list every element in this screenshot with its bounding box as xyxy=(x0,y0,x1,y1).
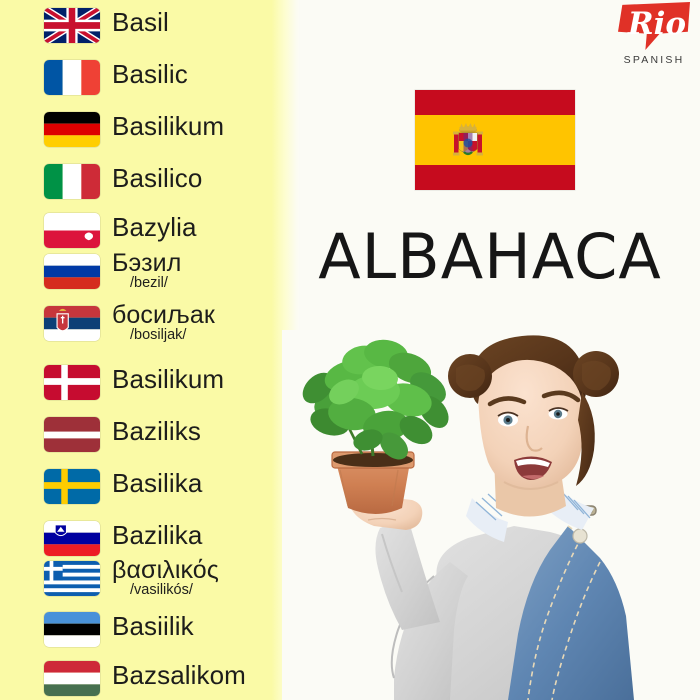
word-container: Baziliks xyxy=(112,413,292,457)
list-item[interactable]: Basilikum xyxy=(0,361,290,405)
list-item[interactable]: Baziliks xyxy=(0,413,290,457)
list-item[interactable]: Basilico xyxy=(0,160,290,204)
spain-flag-middle-stripe xyxy=(415,115,575,165)
list-item[interactable]: Бэзил /bezil/ xyxy=(0,250,290,294)
word-container: Bazsalikom xyxy=(112,657,292,700)
flag-hungary-icon xyxy=(44,661,100,696)
translation-word: Baziliks xyxy=(112,415,201,447)
word-container: Basilico xyxy=(112,160,292,204)
flag-uk-icon xyxy=(44,8,100,43)
translation-pronunciation: /bezil/ xyxy=(130,275,168,291)
list-item[interactable]: Bazsalikom xyxy=(0,657,290,700)
photo-illustration xyxy=(282,330,700,700)
word-container: Бэзил /bezil/ xyxy=(112,250,292,294)
spain-flag-bottom-stripe xyxy=(415,165,575,190)
word-container: βασιλικός /vasilikós/ xyxy=(112,557,292,601)
translation-word: Bazylia xyxy=(112,211,197,243)
brand-subtitle: SPANISH xyxy=(608,54,700,66)
flag-france-icon xyxy=(44,60,100,95)
word-container: Basilikum xyxy=(112,108,292,152)
flag-estonia-icon xyxy=(44,612,100,647)
infographic-canvas: Rio SPANISH ALBAHACA xyxy=(0,0,700,700)
translation-word: Basil xyxy=(112,6,169,38)
word-container: босиљак /bosiljak/ xyxy=(112,302,292,346)
spain-flag-icon xyxy=(415,90,575,190)
word-container: Basiilik xyxy=(112,608,292,652)
list-item[interactable]: βασιλικός /vasilikós/ xyxy=(0,557,290,601)
brand-logo[interactable]: Rio SPANISH xyxy=(608,2,696,80)
translation-word: Basilico xyxy=(112,162,202,194)
translation-word: Basiilik xyxy=(112,610,194,642)
translation-word: Bazilika xyxy=(112,519,202,551)
translation-word: Bazsalikom xyxy=(112,659,246,691)
translation-word: Basilikum xyxy=(112,110,224,142)
featured-word: ALBAHACA xyxy=(290,222,690,292)
list-item[interactable]: Basilikum xyxy=(0,108,290,152)
flag-italy-icon xyxy=(44,164,100,199)
translation-pronunciation: /vasilikós/ xyxy=(130,582,193,598)
flag-sweden-icon xyxy=(44,469,100,504)
flag-slovenia-icon xyxy=(44,521,100,556)
word-container: Basil xyxy=(112,4,292,48)
word-container: Basilikum xyxy=(112,361,292,405)
word-container: Basilika xyxy=(112,465,292,509)
translation-word: Basilic xyxy=(112,58,188,90)
spain-coat-of-arms-icon xyxy=(450,122,486,160)
flag-russia-icon xyxy=(44,254,100,289)
flag-poland-icon xyxy=(44,213,100,248)
flag-greece-icon xyxy=(44,561,100,596)
translation-pronunciation: /bosiljak/ xyxy=(130,327,186,343)
flag-serbia-icon xyxy=(44,306,100,341)
list-item[interactable]: босиљак /bosiljak/ xyxy=(0,302,290,346)
basil-photo xyxy=(282,330,700,700)
list-item[interactable]: Basilic xyxy=(0,56,290,100)
flag-latvia-icon xyxy=(44,417,100,452)
list-item[interactable]: Basil xyxy=(0,4,290,48)
translation-word: Basilikum xyxy=(112,363,224,395)
translation-word: Basilika xyxy=(112,467,202,499)
flag-denmark-icon xyxy=(44,365,100,400)
flag-germany-icon xyxy=(44,112,100,147)
list-item[interactable]: Basilika xyxy=(0,465,290,509)
spain-flag-top-stripe xyxy=(415,90,575,115)
brand-name: Rio xyxy=(624,4,690,44)
word-container: Basilic xyxy=(112,56,292,100)
list-item[interactable]: Basiilik xyxy=(0,608,290,652)
